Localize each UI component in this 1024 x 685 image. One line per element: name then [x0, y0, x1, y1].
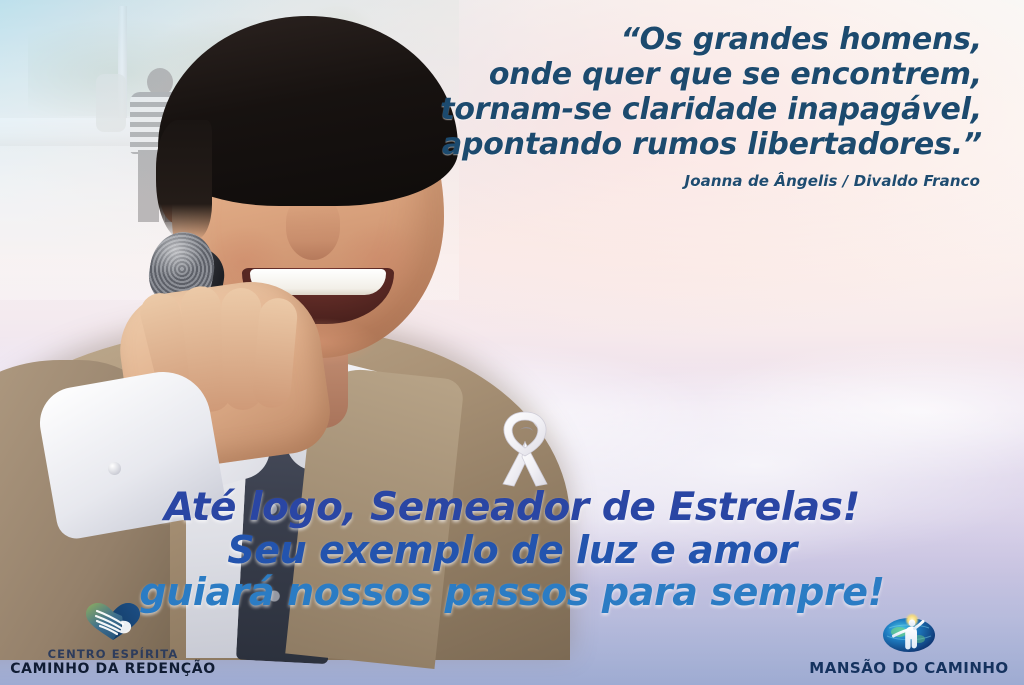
quote-block: “Os grandes homens, onde quer que se enc…: [222, 22, 982, 162]
quote-line-3: tornam-se claridade inapagável,: [222, 92, 982, 127]
logo-left-line-1: CENTRO ESPÍRITA: [6, 648, 220, 661]
logo-right-title: MANSÃO DO CAMINHO: [802, 660, 1016, 677]
message-line-2: Seu exemplo de luz e amor: [0, 529, 1024, 571]
quote-line-1: “Os grandes homens,: [222, 22, 982, 57]
logo-centro-espirita-caminho-da-redencao[interactable]: CENTRO ESPÍRITA CAMINHO DA REDENÇÃO: [6, 602, 220, 677]
farewell-message: Até logo, Semeador de Estrelas! Seu exem…: [0, 486, 1024, 613]
logo-mansao-do-caminho[interactable]: MANSÃO DO CAMINHO: [802, 612, 1016, 677]
quote-line-4: apontando rumos libertadores.”: [222, 127, 982, 162]
memorial-poster: “Os grandes homens, onde quer que se enc…: [0, 0, 1024, 685]
mourning-ribbon-icon: [487, 408, 563, 488]
quote-attribution: Joanna de Ângelis / Divaldo Franco: [280, 172, 980, 190]
message-line-1: Até logo, Semeador de Estrelas!: [0, 486, 1024, 529]
globe-figure-icon: [802, 612, 1016, 658]
portrait-cuff-button: [108, 462, 121, 475]
logo-left-line-2: CAMINHO DA REDENÇÃO: [6, 661, 220, 677]
portrait-sideburn: [156, 120, 212, 240]
heart-hands-icon: [6, 602, 220, 646]
quote-line-2: onde quer que se encontrem,: [222, 57, 982, 92]
